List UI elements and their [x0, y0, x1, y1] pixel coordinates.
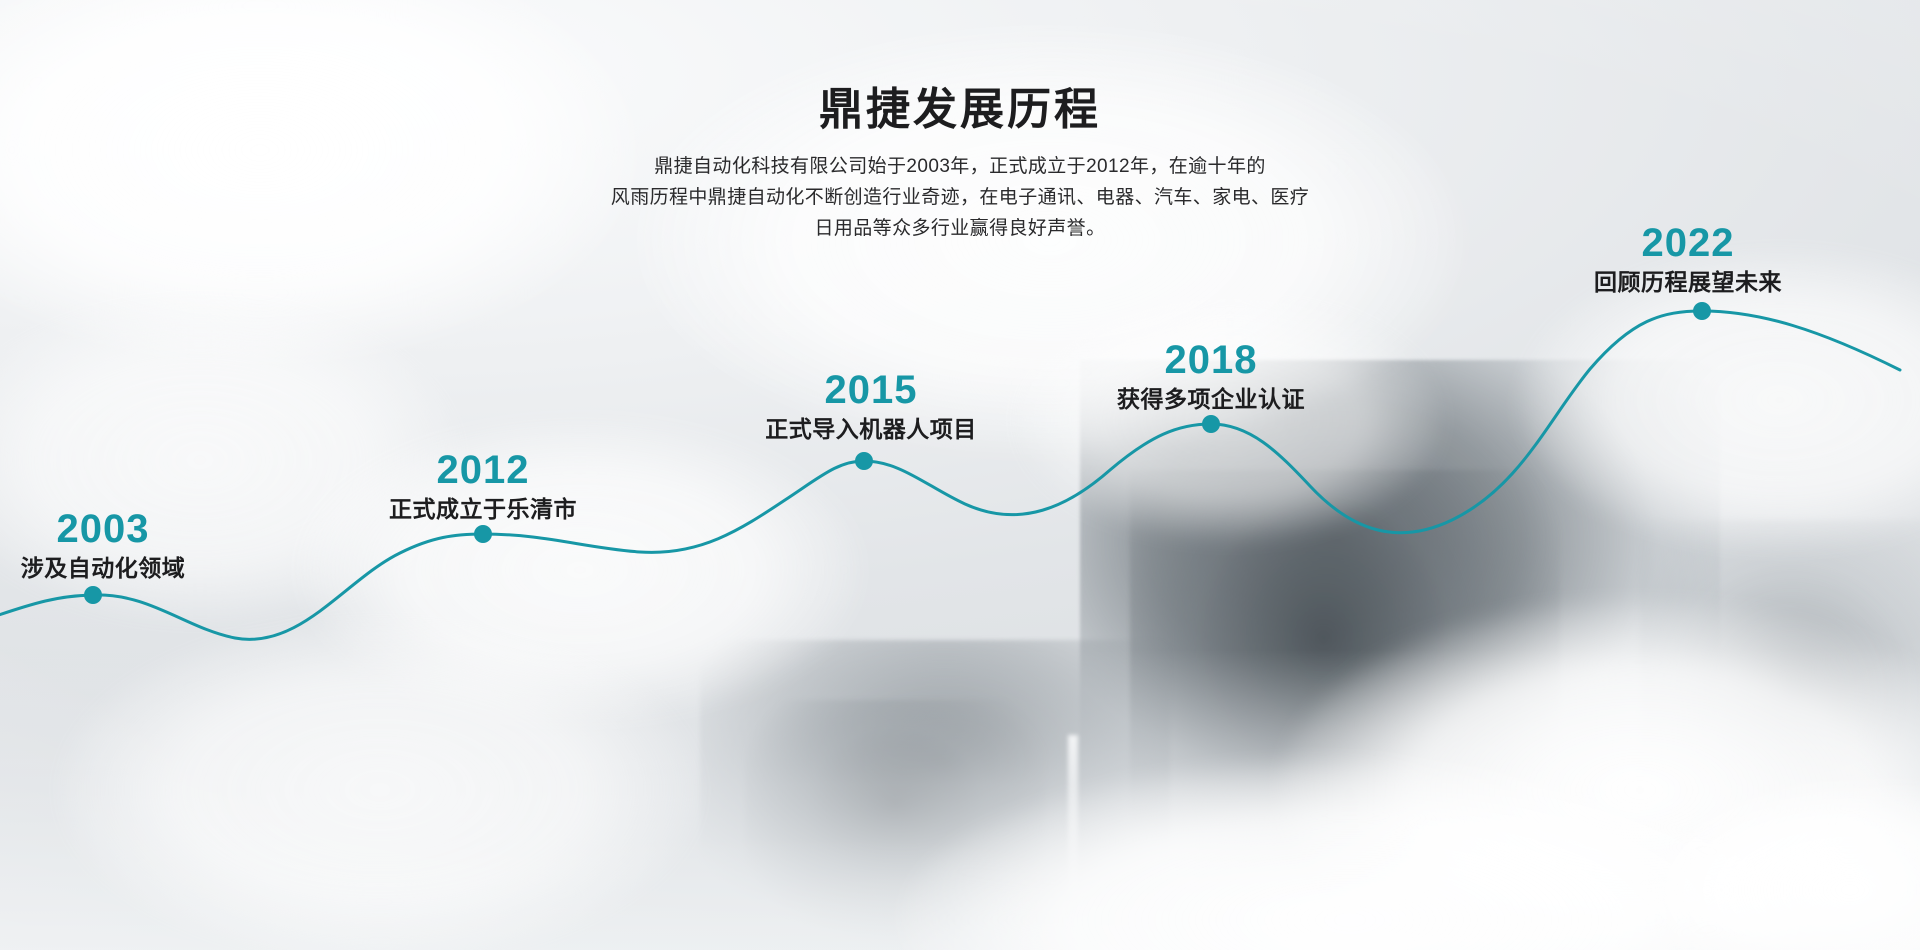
- milestone-label-2018: 获得多项企业认证: [1117, 385, 1305, 415]
- milestone-2012[interactable]: 2012正式成立于乐清市: [389, 449, 577, 525]
- milestone-year-2015: 2015: [765, 369, 977, 411]
- milestone-2022[interactable]: 2022回顾历程展望未来: [1594, 222, 1782, 298]
- milestone-label-2015: 正式导入机器人项目: [765, 415, 977, 445]
- milestone-year-2012: 2012: [389, 449, 577, 491]
- milestone-year-2022: 2022: [1594, 222, 1782, 264]
- infographic-stage: 鼎捷发展历程 鼎捷自动化科技有限公司始于2003年，正式成立于2012年，在逾十…: [0, 0, 1920, 950]
- milestone-year-2018: 2018: [1117, 339, 1305, 381]
- milestone-label-2012: 正式成立于乐清市: [389, 495, 577, 525]
- description-line-2: 风雨历程中鼎捷自动化不断创造行业奇迹，在电子通讯、电器、汽车、家电、医疗: [0, 183, 1920, 214]
- milestone-year-2003: 2003: [21, 508, 186, 550]
- milestone-2003[interactable]: 2003涉及自动化领域: [21, 508, 186, 584]
- page-title: 鼎捷发展历程: [0, 86, 1920, 134]
- milestone-2015[interactable]: 2015正式导入机器人项目: [765, 369, 977, 445]
- milestone-label-2022: 回顾历程展望未来: [1594, 268, 1782, 298]
- milestone-label-2003: 涉及自动化领域: [21, 554, 186, 584]
- header: 鼎捷发展历程 鼎捷自动化科技有限公司始于2003年，正式成立于2012年，在逾十…: [0, 86, 1920, 245]
- milestone-2018[interactable]: 2018获得多项企业认证: [1117, 339, 1305, 415]
- description-line-1: 鼎捷自动化科技有限公司始于2003年，正式成立于2012年，在逾十年的: [0, 152, 1920, 183]
